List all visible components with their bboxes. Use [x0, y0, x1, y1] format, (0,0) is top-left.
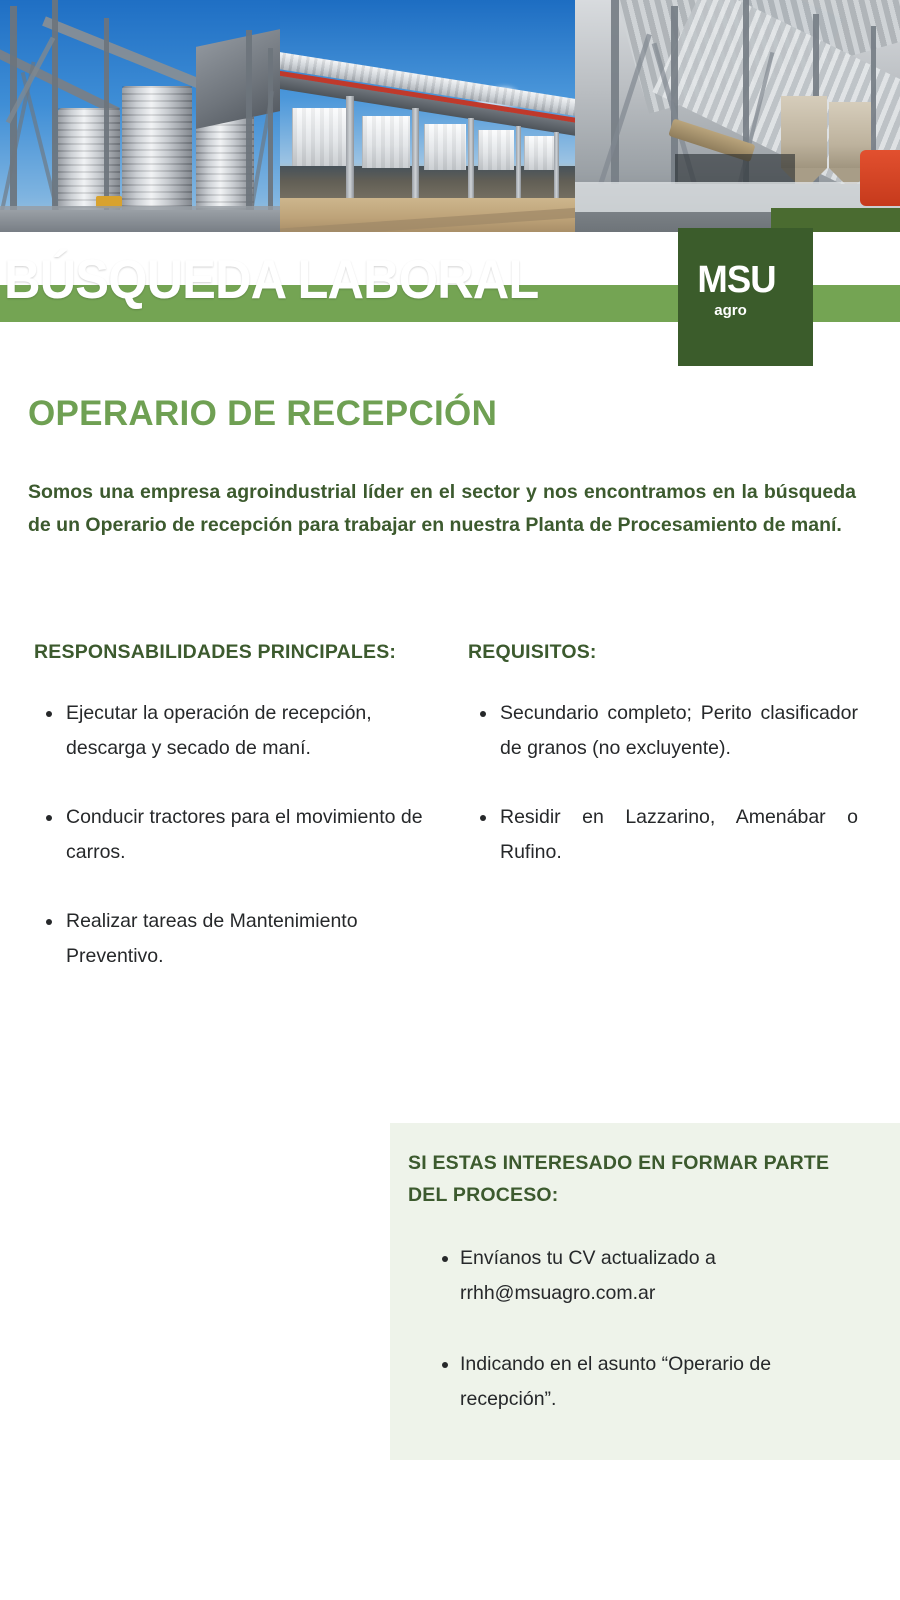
- loading-bay: [362, 116, 410, 168]
- cta-list: Envíanos tu CV actualizado a rrhh@msuagr…: [434, 1241, 870, 1453]
- requirements-list: Secundario completo; Perito clasificador…: [468, 696, 858, 870]
- application-instructions-box: SI ESTAS INTERESADO EN FORMAR PARTE DEL …: [390, 1123, 900, 1460]
- warehouse-loading-bays-photo: [280, 0, 575, 232]
- steel-brace: [0, 61, 36, 228]
- job-intro-paragraph: Somos una empresa agroindustrial líder e…: [28, 476, 856, 542]
- job-posting-poster: BÚSQUEDA LABORAL MSU agro OPERARIO DE RE…: [0, 0, 900, 1600]
- loading-bay: [424, 124, 466, 170]
- roof-pillar: [468, 118, 474, 204]
- list-item: Conducir tractores para el movimiento de…: [34, 800, 424, 870]
- list-item: Envíanos tu CV actualizado a rrhh@msuagr…: [434, 1241, 870, 1311]
- job-title: OPERARIO DE RECEPCIÓN: [28, 392, 868, 436]
- loading-bay: [524, 136, 554, 170]
- list-item: Residir en Lazzarino, Amenábar o Rufino.: [468, 800, 858, 870]
- silo-conveyor-beam-icon: [42, 16, 202, 88]
- loading-bay: [292, 108, 346, 166]
- platform-deck: [0, 210, 280, 232]
- cta-heading: SI ESTAS INTERESADO EN FORMAR PARTE DEL …: [408, 1147, 868, 1211]
- responsibilities-heading: RESPONSABILIDADES PRINCIPALES:: [34, 634, 424, 670]
- msu-agro-logo: MSU agro: [678, 228, 813, 366]
- roof-pillar: [554, 132, 559, 204]
- logo-brand-text: MSU: [680, 260, 792, 300]
- list-item: Indicando en el asunto “Operario de rece…: [434, 1347, 870, 1417]
- requirements-column: REQUISITOS: Secundario completo; Perito …: [468, 634, 858, 904]
- grain-silos-photo: [0, 0, 280, 232]
- red-machine: [860, 150, 900, 206]
- list-item: Realizar tareas de Mantenimiento Prevent…: [34, 904, 424, 974]
- banner-title: BÚSQUEDA LABORAL: [4, 248, 630, 310]
- roof-pillar: [412, 108, 419, 204]
- loading-bay: [478, 130, 514, 170]
- list-item: Secundario completo; Perito clasificador…: [468, 696, 858, 766]
- roof-pillar: [346, 96, 354, 204]
- header-photo-strip: [0, 0, 900, 232]
- steel-brace: [591, 34, 651, 207]
- responsibilities-column: RESPONSABILIDADES PRINCIPALES: Ejecutar …: [34, 634, 424, 1008]
- roof-pillar: [516, 126, 521, 204]
- logo-sub-text: agro: [678, 302, 783, 320]
- steel-column: [268, 48, 273, 232]
- plant-interior-structure-photo: [575, 0, 900, 232]
- responsibilities-list: Ejecutar la operación de recepción, desc…: [34, 696, 424, 974]
- requirements-heading: REQUISITOS:: [468, 634, 858, 670]
- list-item: Ejecutar la operación de recepción, desc…: [34, 696, 424, 766]
